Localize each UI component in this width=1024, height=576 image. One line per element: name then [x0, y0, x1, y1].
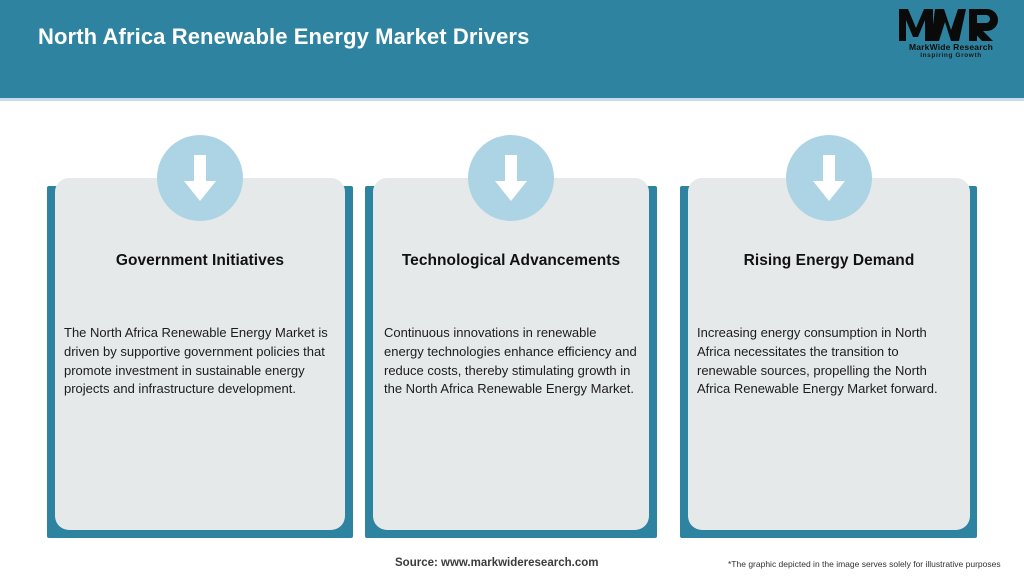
card-title: Rising Energy Demand	[688, 252, 970, 270]
card-title: Government Initiatives	[55, 252, 345, 270]
card-description: Increasing energy consumption in North A…	[697, 324, 959, 399]
arrow-down-icon	[786, 135, 872, 221]
disclaimer-note: *The graphic depicted in the image serve…	[728, 559, 1001, 569]
arrow-down-icon	[468, 135, 554, 221]
card-title: Technological Advancements	[373, 252, 649, 270]
card-description: The North Africa Renewable Energy Market…	[64, 324, 336, 399]
source-label: Source: www.markwideresearch.com	[395, 557, 598, 569]
driver-cards: Government Initiatives The North Africa …	[0, 0, 1024, 576]
card-description: Continuous innovations in renewable ener…	[384, 324, 638, 399]
arrow-down-icon	[157, 135, 243, 221]
